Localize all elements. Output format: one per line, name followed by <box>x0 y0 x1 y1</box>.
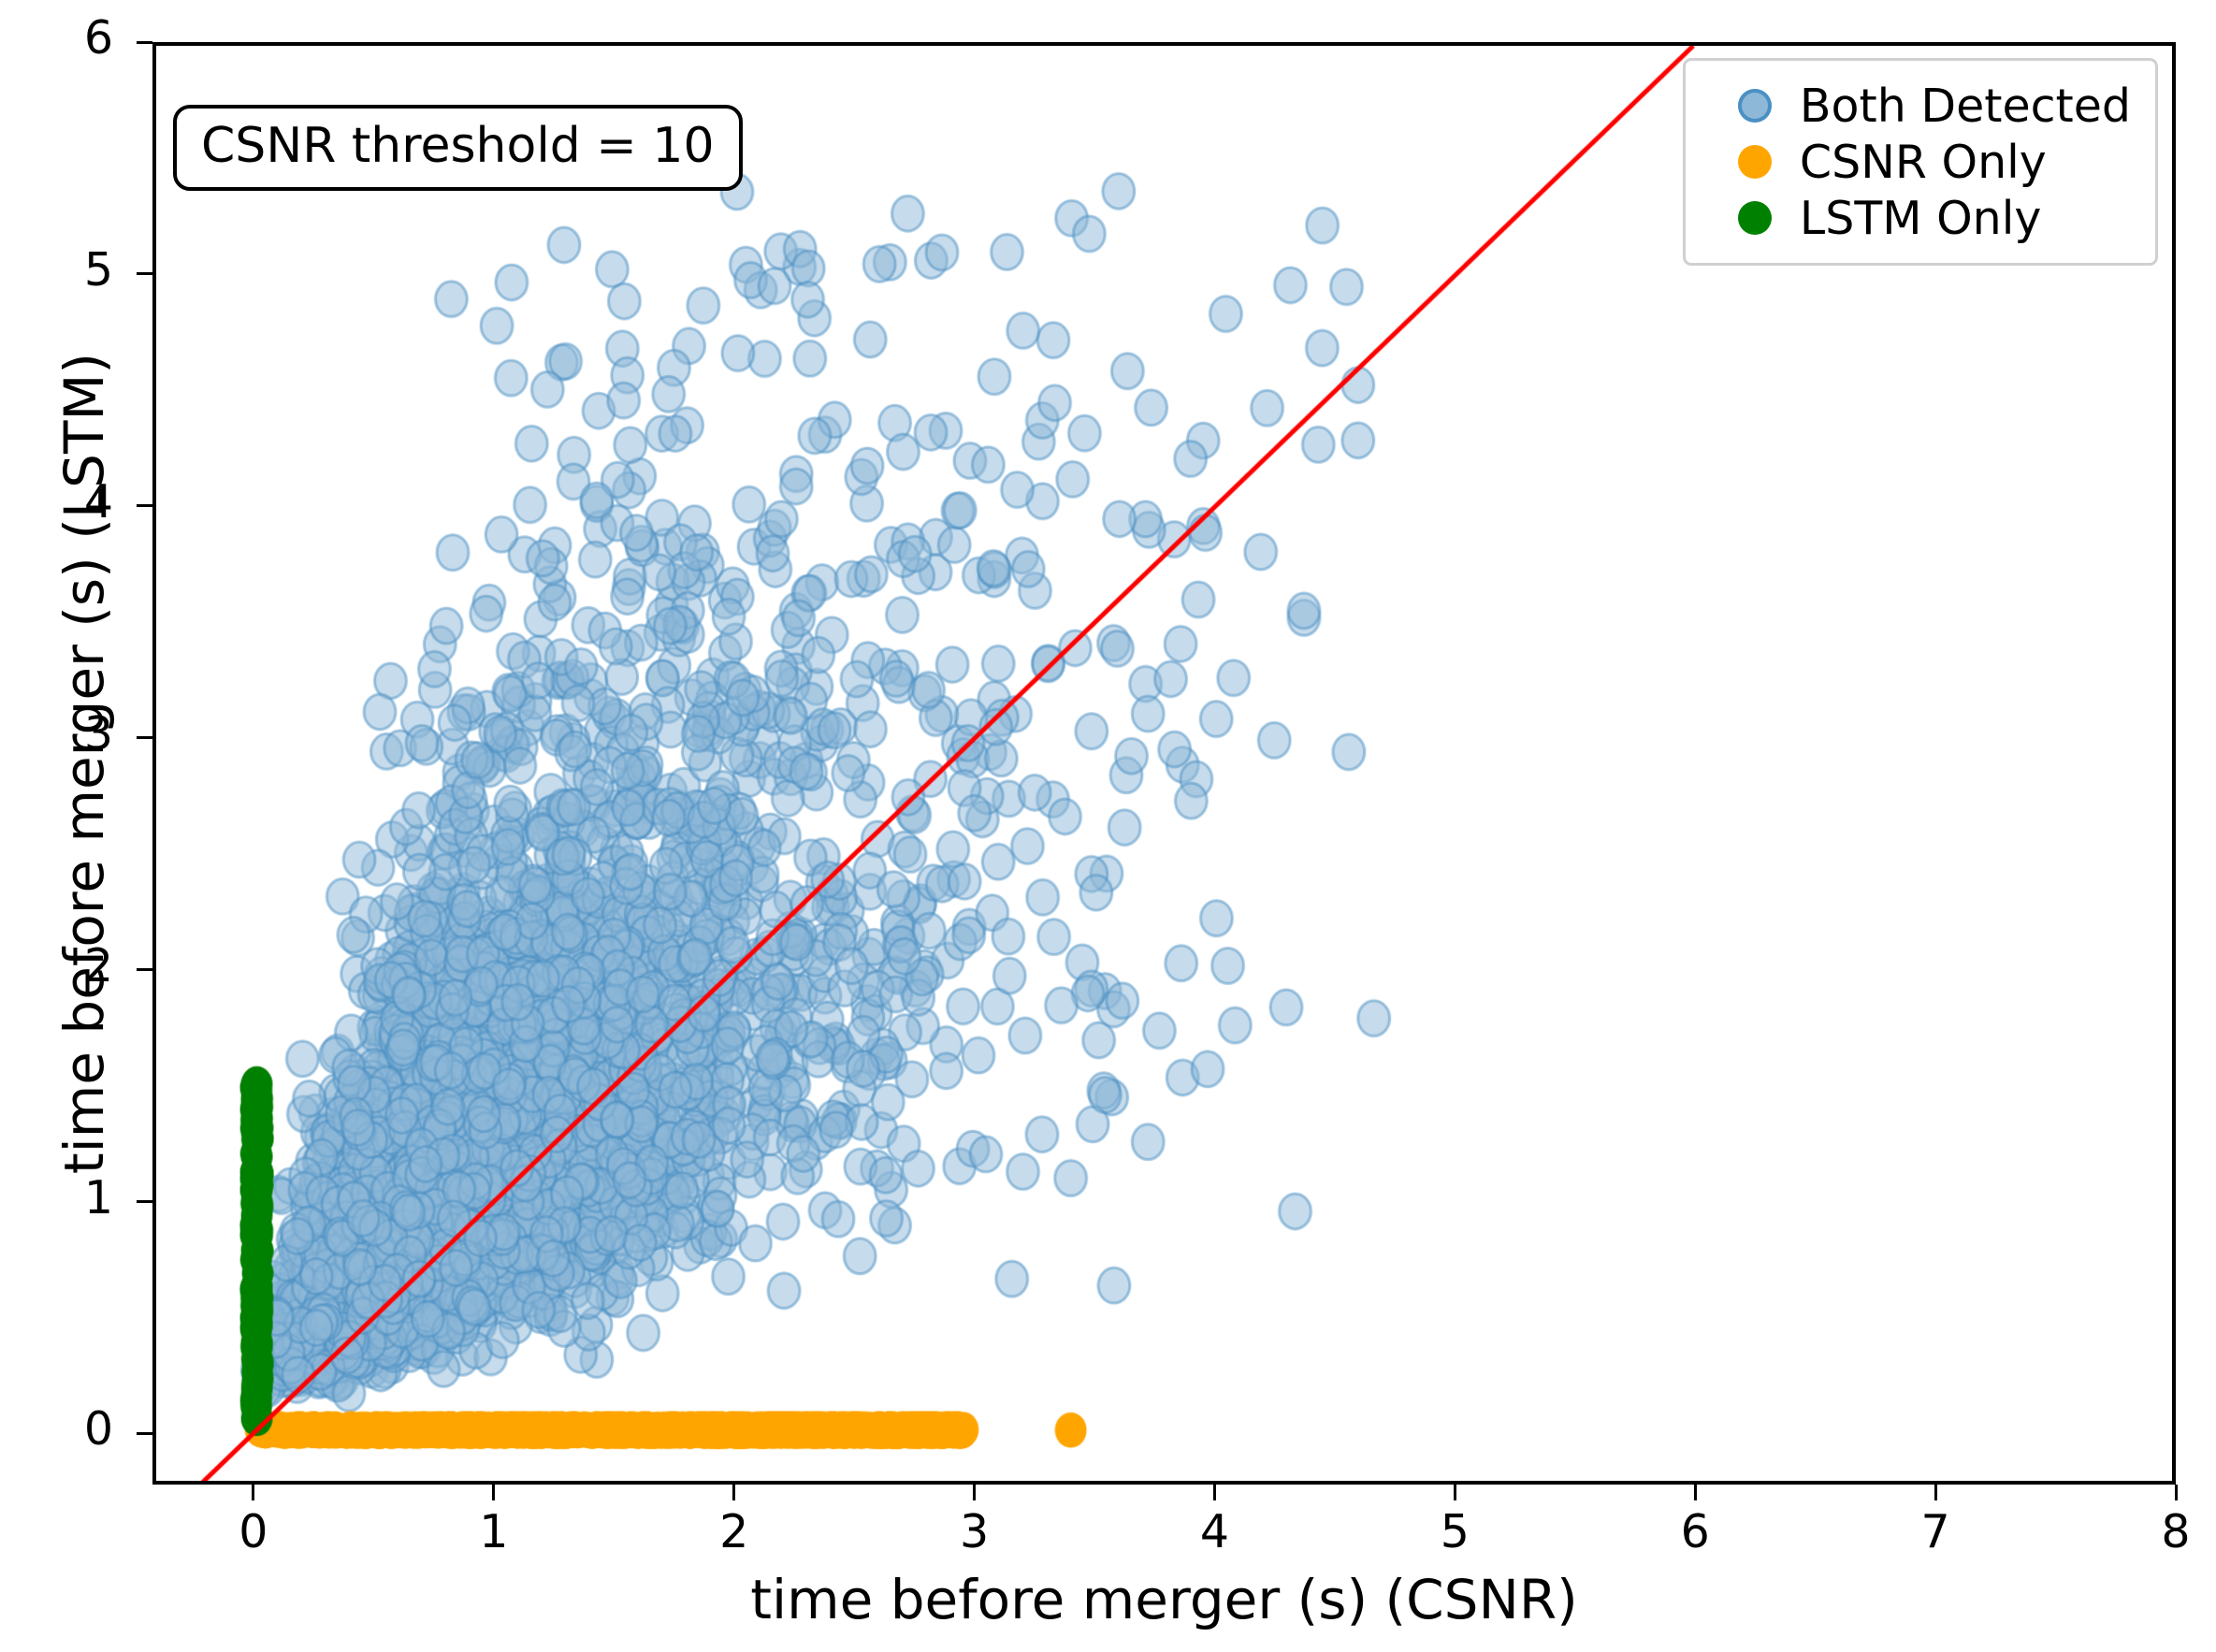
y-tick-6 <box>137 41 152 44</box>
x-tick-3 <box>973 1485 976 1500</box>
x-tick-5 <box>1454 1485 1456 1500</box>
x-tick-1 <box>492 1485 495 1500</box>
x-tick-label-4: 4 <box>1158 1508 1270 1556</box>
csnr-threshold-annotation: CSNR threshold = 10 <box>173 105 743 191</box>
x-tick-label-2: 2 <box>678 1508 790 1556</box>
legend: Both Detected CSNR Only LSTM Only <box>1683 58 2158 266</box>
x-tick-7 <box>1934 1485 1937 1500</box>
x-tick-label-3: 3 <box>919 1508 1031 1556</box>
legend-marker-lstm-only <box>1738 201 1772 235</box>
y-tick-1 <box>137 1200 152 1203</box>
legend-label-csnr-only: CSNR Only <box>1800 136 2047 189</box>
x-tick-0 <box>252 1485 254 1500</box>
legend-item-csnr-only[interactable]: CSNR Only <box>1706 134 2131 190</box>
y-tick-0 <box>137 1432 152 1435</box>
x-tick-8 <box>2175 1485 2178 1500</box>
x-axis-label: time before merger (s) (CSNR) <box>152 1568 2176 1631</box>
y-tick-4 <box>137 504 152 507</box>
x-tick-label-1: 1 <box>438 1508 550 1556</box>
annotation-text: CSNR threshold = 10 <box>201 118 715 174</box>
x-tick-2 <box>732 1485 735 1500</box>
y-tick-3 <box>137 736 152 739</box>
y-axis-label-holder: time before merger (s) (LSTM) <box>0 42 58 1485</box>
y-axis-label: time before merger (s) (LSTM) <box>52 42 116 1485</box>
y-tick-2 <box>137 968 152 971</box>
x-tick-4 <box>1213 1485 1216 1500</box>
scatter-figure: CSNR threshold = 10 Both Detected CSNR O… <box>0 0 2216 1652</box>
x-tick-6 <box>1694 1485 1697 1500</box>
legend-marker-both-detected <box>1738 89 1772 123</box>
x-tick-label-5: 5 <box>1398 1508 1511 1556</box>
y-tick-5 <box>137 272 152 275</box>
legend-marker-csnr-only <box>1738 145 1772 179</box>
legend-item-both-detected[interactable]: Both Detected <box>1706 78 2131 134</box>
legend-label-both-detected: Both Detected <box>1800 80 2131 133</box>
x-tick-label-8: 8 <box>2120 1508 2216 1556</box>
legend-item-lstm-only[interactable]: LSTM Only <box>1706 190 2131 246</box>
x-tick-label-6: 6 <box>1639 1508 1751 1556</box>
legend-label-lstm-only: LSTM Only <box>1800 192 2041 245</box>
x-tick-label-7: 7 <box>1879 1508 1992 1556</box>
x-tick-label-0: 0 <box>197 1508 310 1556</box>
